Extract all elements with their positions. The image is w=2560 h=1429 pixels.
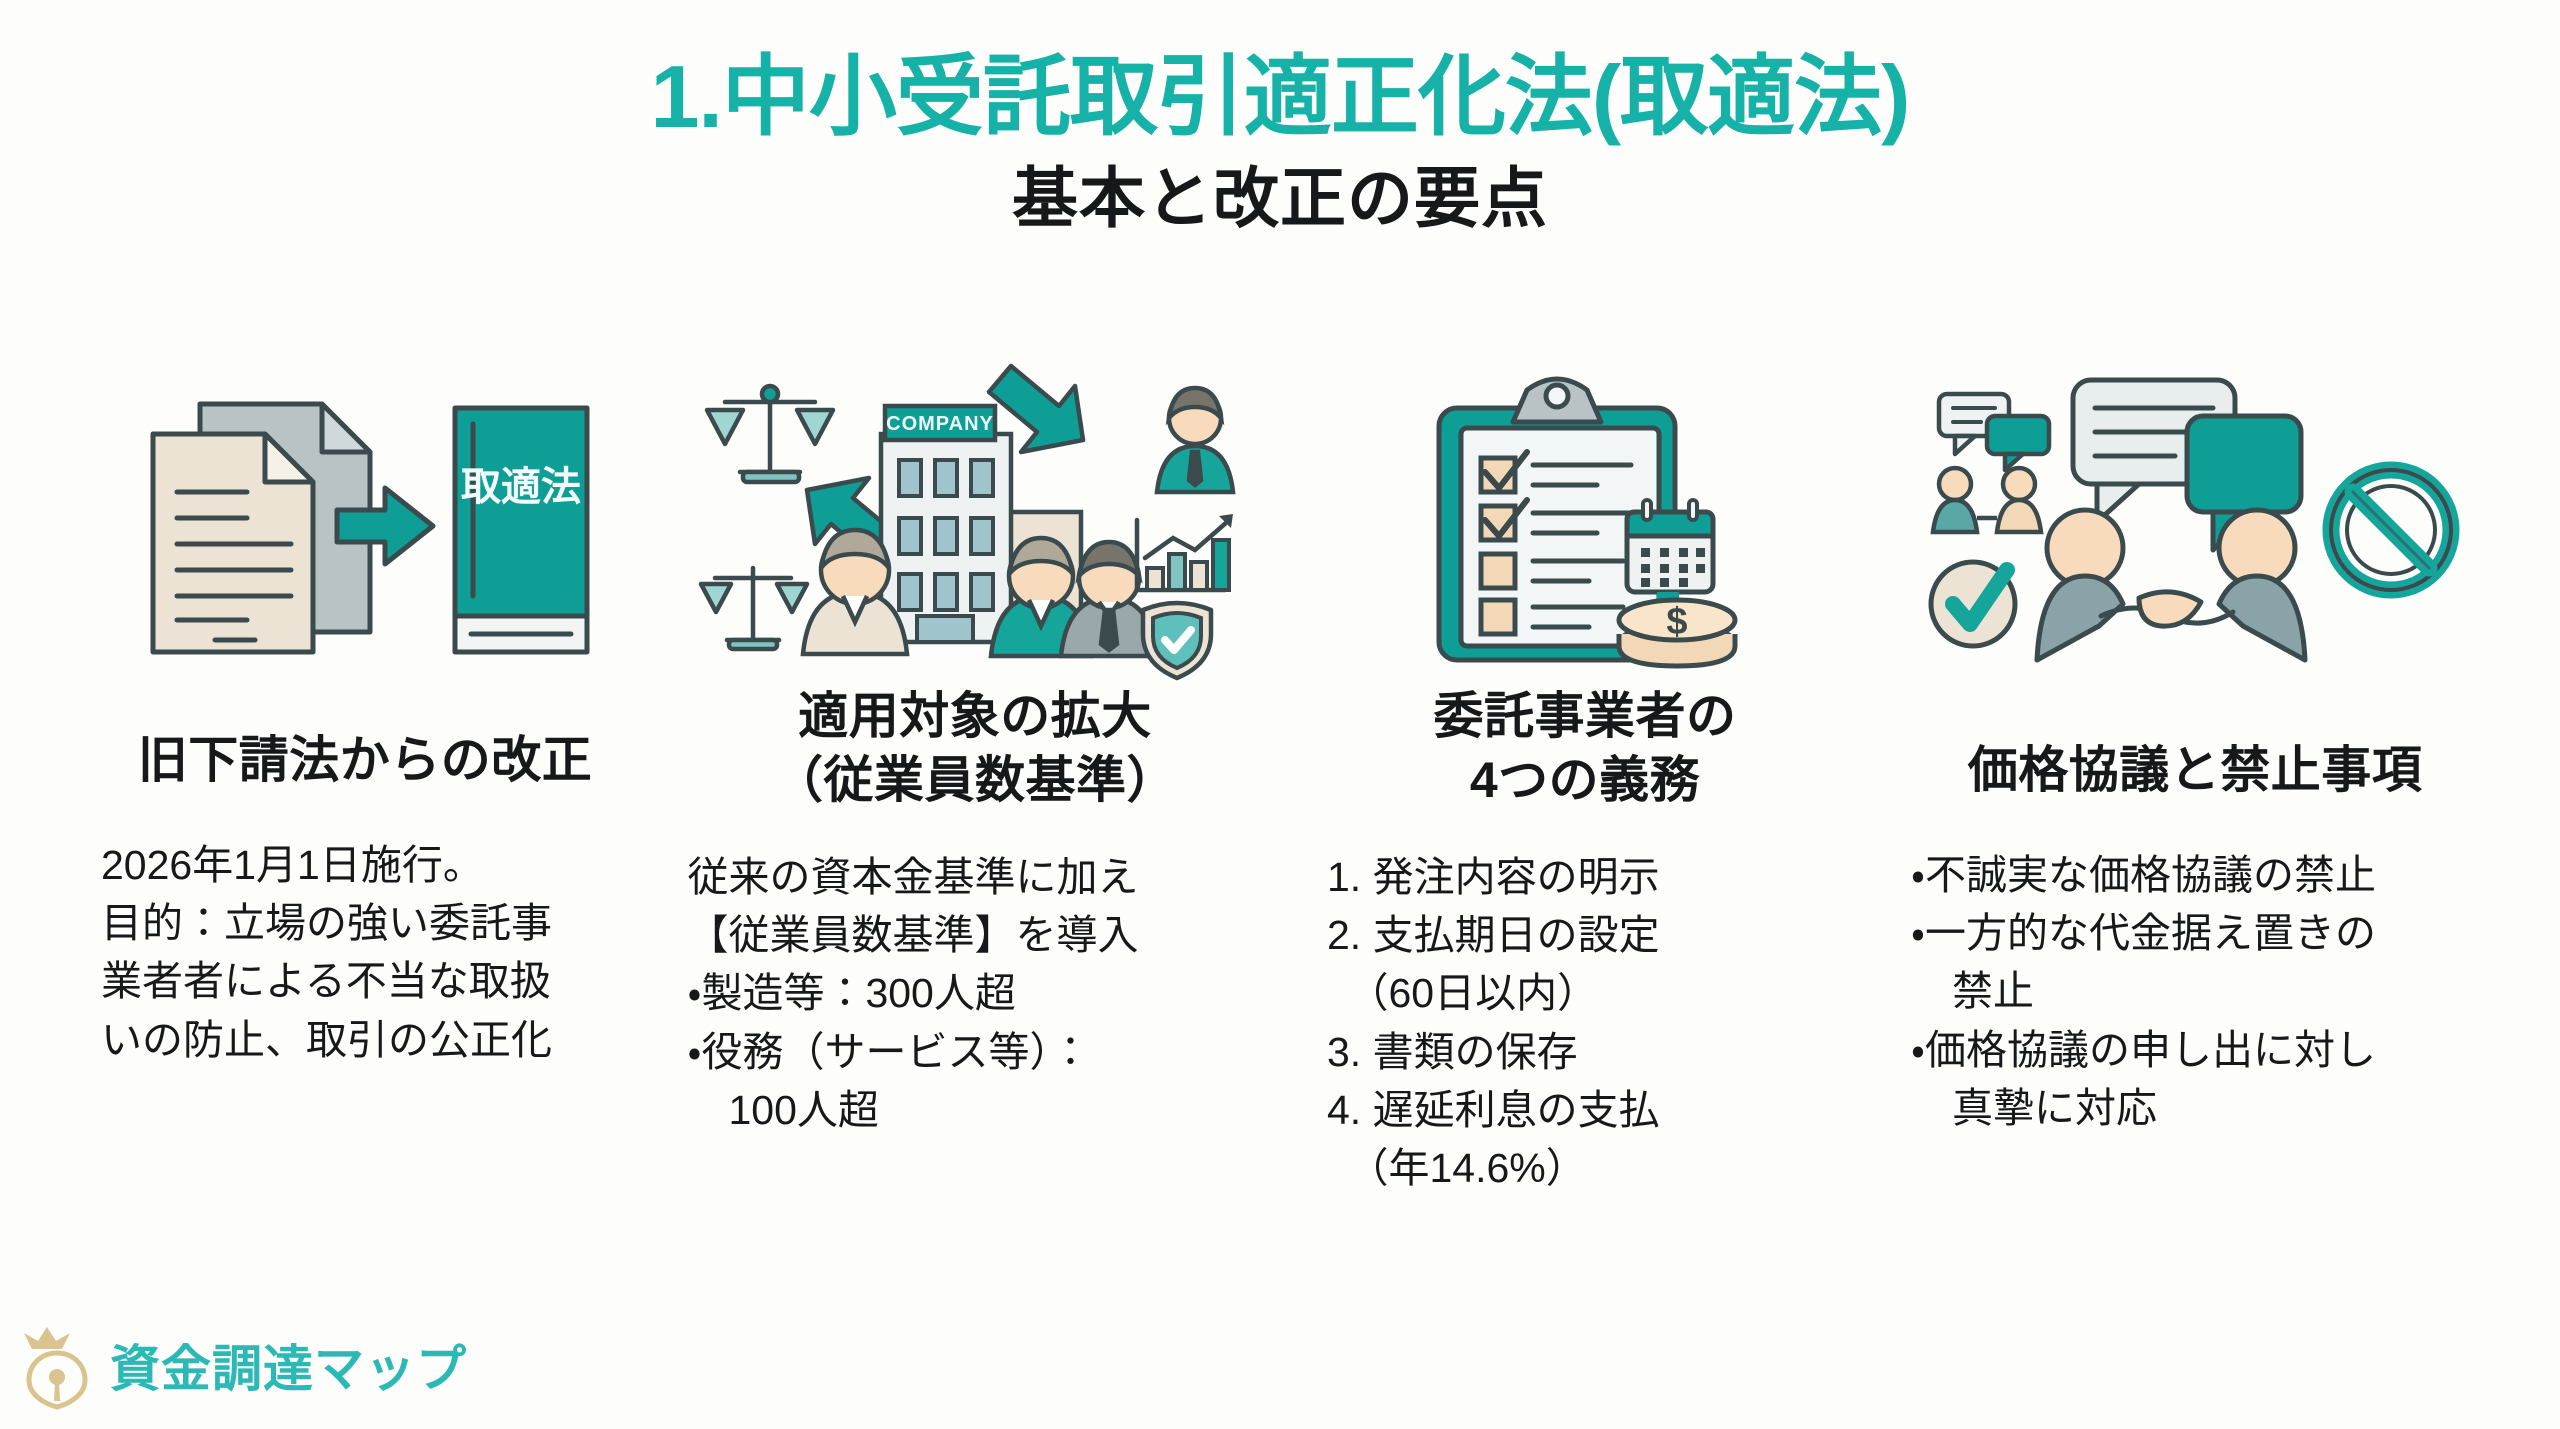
body-line: 禁止 xyxy=(1911,962,2485,1020)
body-line: ・価格協議の申し出に対し xyxy=(1911,1021,2485,1079)
column-price-negotiation: 価格協議と禁止事項 ・不誠実な価格協議の禁止 ・一方的な代金据え置きの 禁止 ・… xyxy=(1890,378,2500,1137)
crown-pin-logo-icon xyxy=(18,1323,96,1407)
column-four-obligations: $ 委託事業者の 4つの義務 1. 発注内容の明示 2. 支払期日の設定 （60… xyxy=(1280,378,1890,1197)
column-body-1: 2026年1月1日施行。 目的：立場の強い委託事 業者者による不当な取扱 いの防… xyxy=(85,836,645,1069)
column-scope-expansion: COMPANY xyxy=(670,378,1280,1139)
company-building-people-icon: COMPANY xyxy=(670,378,1280,678)
column-heading-2: 適用対象の拡大 （従業員数基準） xyxy=(773,684,1177,812)
body-line: ・一方的な代金据え置きの xyxy=(1911,904,2485,962)
body-line: （年14.6%） xyxy=(1327,1139,1865,1197)
body-line: 2026年1月1日施行。 xyxy=(101,836,645,894)
column-body-3: 1. 発注内容の明示 2. 支払期日の設定 （60日以内） 3. 書類の保存 4… xyxy=(1305,848,1865,1197)
body-line: ・役務（サービス等）： xyxy=(688,1023,1263,1081)
body-line: 従来の資本金基準に加え xyxy=(688,848,1263,906)
building-label: COMPANY xyxy=(886,413,994,435)
body-line: 3. 書類の保存 xyxy=(1327,1023,1865,1081)
body-line: 目的：立場の強い委託事 xyxy=(101,894,645,952)
column-heading-3: 委託事業者の 4つの義務 xyxy=(1434,684,1737,812)
column-body-2: 従来の資本金基準に加え 【従業員数基準】を導入 ・製造等：300人超 ・役務（サ… xyxy=(688,848,1263,1139)
column-body-4: ・不誠実な価格協議の禁止 ・一方的な代金据え置きの 禁止 ・価格協議の申し出に対… xyxy=(1905,846,2485,1137)
content-columns: 取適法 旧下請法からの改正 2026年1月1日施行。 目的：立場の強い委託事 業… xyxy=(60,378,2500,1338)
documents-to-lawbook-icon: 取適法 xyxy=(60,378,670,678)
clipboard-calendar-coins-icon: $ xyxy=(1280,378,1890,678)
body-line: 業者者による不当な取扱 xyxy=(101,952,645,1010)
body-line: 1. 発注内容の明示 xyxy=(1327,848,1865,906)
page-title: 1.中小受託取引適正化法(取適法) xyxy=(0,48,2560,147)
body-line: 4. 遅延利息の支払 xyxy=(1327,1081,1865,1139)
slide-header: 1.中小受託取引適正化法(取適法) 基本と改正の要点 xyxy=(0,48,2560,236)
footer-logo[interactable]: 資金調達マップ xyxy=(18,1323,467,1407)
body-line: 100人超 xyxy=(688,1081,1263,1139)
page-subtitle: 基本と改正の要点 xyxy=(0,161,2560,237)
handshake-negotiation-icon xyxy=(1890,378,2500,678)
slide-canvas: 1.中小受託取引適正化法(取適法) 基本と改正の要点 xyxy=(0,0,2560,1429)
body-line: いの防止、取引の公正化 xyxy=(101,1011,645,1069)
body-line: ・不誠実な価格協議の禁止 xyxy=(1911,846,2485,904)
column-old-law-revision: 取適法 旧下請法からの改正 2026年1月1日施行。 目的：立場の強い委託事 業… xyxy=(60,378,670,1069)
body-line: ・製造等：300人超 xyxy=(688,964,1263,1022)
column-heading-4: 価格協議と禁止事項 xyxy=(1968,738,2423,802)
body-line: 2. 支払期日の設定 xyxy=(1327,906,1865,964)
body-line: 真摯に対応 xyxy=(1911,1079,2485,1137)
column-heading-1: 旧下請法からの改正 xyxy=(138,728,593,792)
body-line: 【従業員数基準】を導入 xyxy=(688,906,1263,964)
logo-text: 資金調達マップ xyxy=(110,1329,467,1401)
body-line: （60日以内） xyxy=(1327,964,1865,1022)
book-spine-label: 取適法 xyxy=(461,465,581,509)
dollar-sign-icon: $ xyxy=(1666,601,1687,643)
